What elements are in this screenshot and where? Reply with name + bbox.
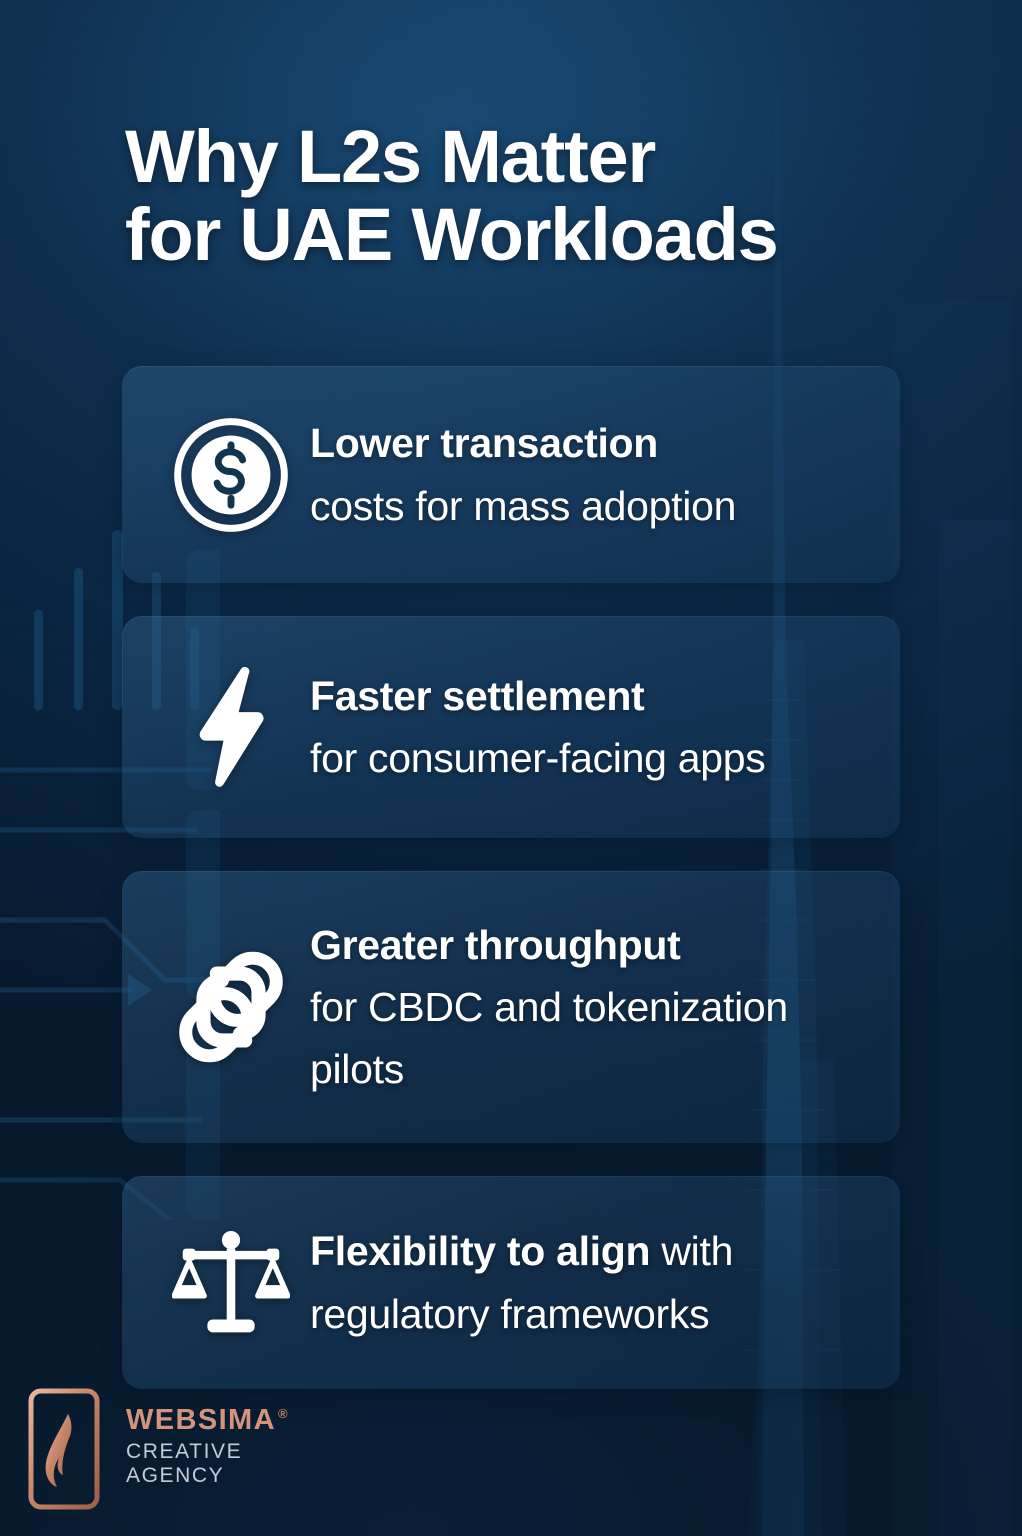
- benefit-headline: Flexibility to align: [310, 1228, 650, 1274]
- benefit-headline: Lower transaction: [310, 420, 658, 466]
- poster-canvas: Why L2s Matter for UAE Workloads Lower t…: [0, 0, 1022, 1536]
- benefit-card-list: Lower transaction costs for mass adoptio…: [122, 366, 900, 1422]
- lightning-bolt-icon: [156, 616, 306, 838]
- scales-of-justice-icon: [156, 1176, 306, 1389]
- page-title: Why L2s Matter for UAE Workloads: [125, 118, 945, 275]
- benefit-card-greater-throughput[interactable]: Greater throughput for CBDC and tokeniza…: [122, 871, 900, 1143]
- benefit-card-faster-settlement[interactable]: Faster settlement for consumer-facing ap…: [122, 616, 900, 838]
- registered-trademark-icon: ®: [278, 1407, 289, 1420]
- benefit-subtext: for consumer-facing apps: [310, 735, 765, 781]
- brand-name: WEBSIMA: [126, 1406, 276, 1435]
- brand-footer: WEBSIMA ® CREATIVE AGENCY: [28, 1388, 289, 1510]
- benefit-card-text: Flexibility to align with regulatory fra…: [306, 1220, 866, 1345]
- benefit-card-text: Greater throughput for CBDC and tokeniza…: [306, 914, 866, 1101]
- chain-link-icon: [156, 871, 306, 1143]
- benefit-card-text: Faster settlement for consumer-facing ap…: [306, 665, 866, 790]
- brand-tagline: CREATIVE AGENCY: [126, 1440, 289, 1487]
- flame-feather-logo-icon: [28, 1388, 100, 1510]
- dollar-coin-icon: [156, 366, 306, 583]
- benefit-subtext: costs for mass adoption: [310, 483, 736, 529]
- benefit-card-text: Lower transaction costs for mass adoptio…: [306, 412, 866, 537]
- brand-lockup: WEBSIMA ® CREATIVE AGENCY: [126, 1406, 289, 1487]
- benefit-headline: Greater throughput: [310, 922, 680, 968]
- brand-name-row: WEBSIMA ®: [126, 1406, 289, 1435]
- benefit-card-flexibility-to-align[interactable]: Flexibility to align with regulatory fra…: [122, 1176, 900, 1389]
- benefit-card-lower-transaction-costs[interactable]: Lower transaction costs for mass adoptio…: [122, 366, 900, 583]
- benefit-headline: Faster settlement: [310, 673, 644, 719]
- benefit-subtext: for CBDC and tokenization pilots: [310, 984, 788, 1092]
